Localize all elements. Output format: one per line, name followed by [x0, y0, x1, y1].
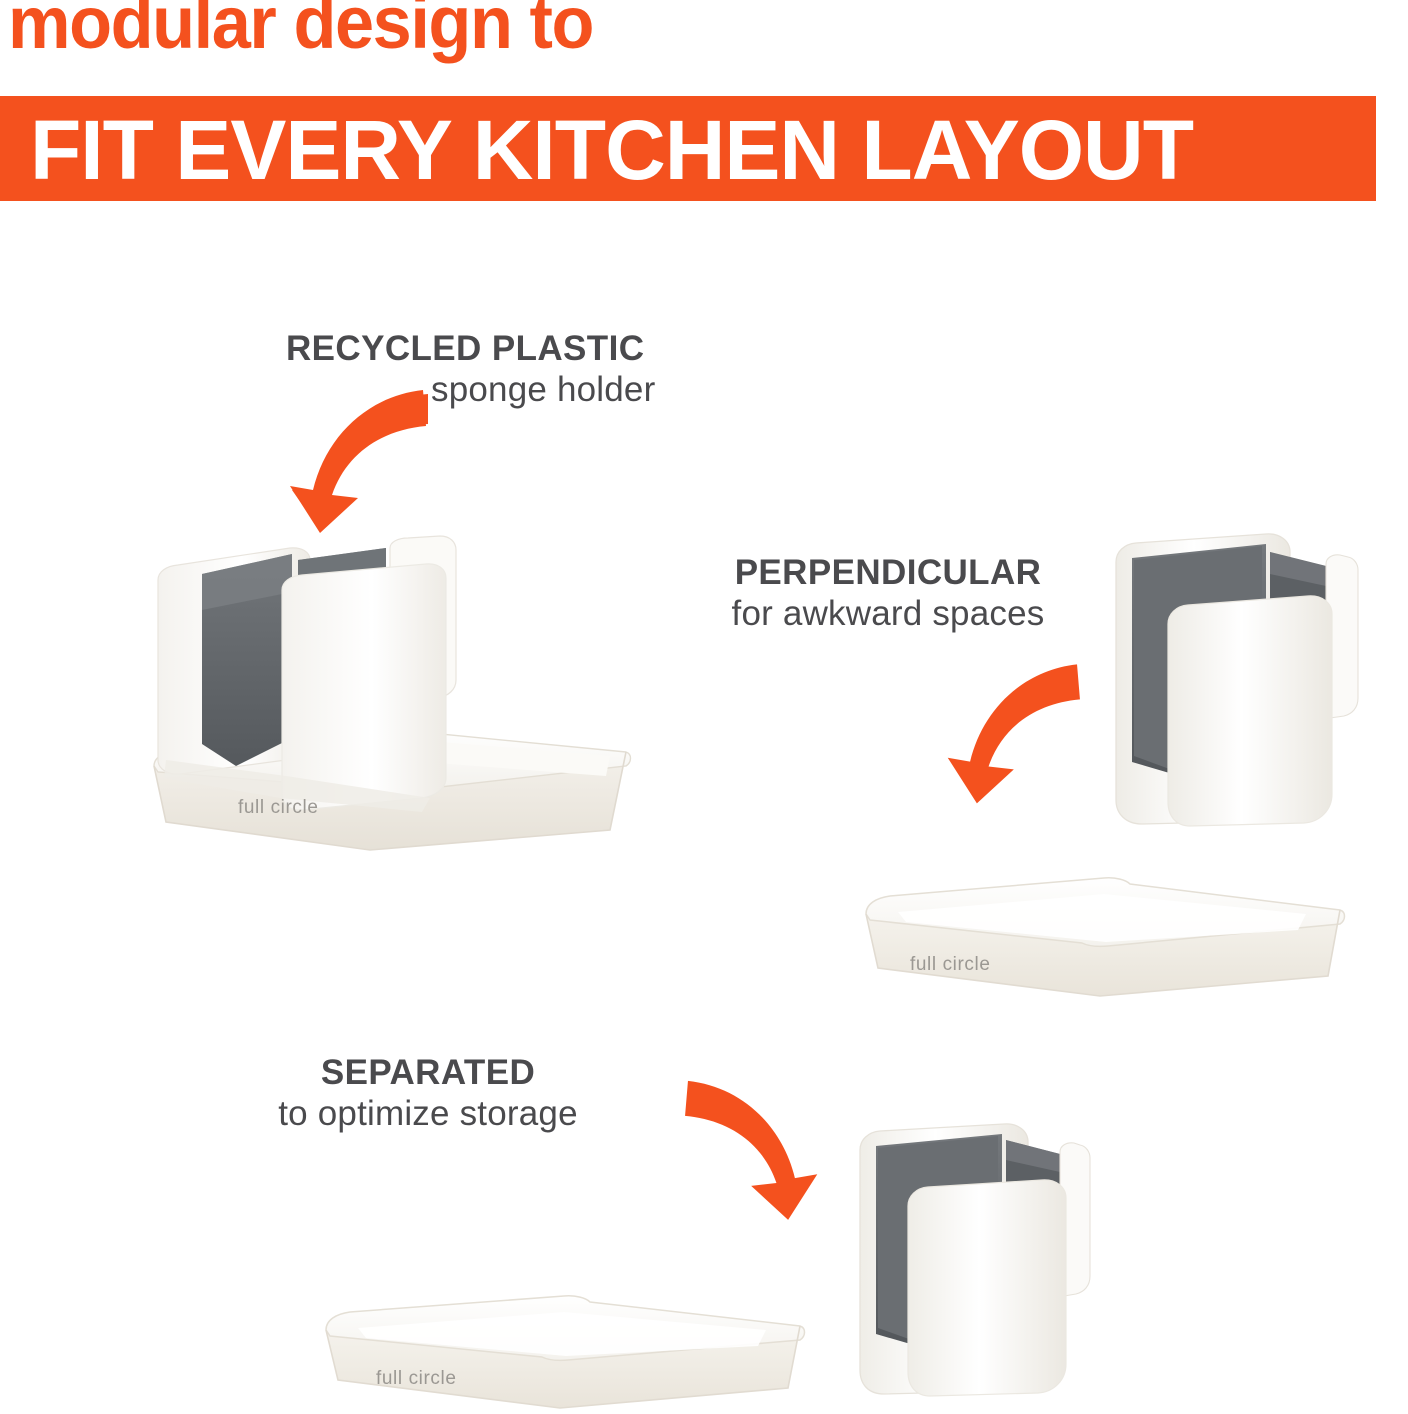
arrow-down-left-icon [938, 648, 1113, 813]
headline-text: FIT EVERY KITCHEN LAYOUT [30, 104, 1193, 196]
product-group-assembled: full circle [140, 530, 640, 880]
callout-perpendicular: PERPENDICULAR for awkward spaces [688, 552, 1088, 635]
arrow-down-left-icon [280, 378, 460, 538]
callout-separated: SEPARATED to optimize storage [228, 1052, 628, 1135]
arrow-down-right-icon [652, 1062, 827, 1232]
eyebrow-heading: modular design to [8, 0, 593, 60]
callout-subtitle: for awkward spaces [688, 593, 1088, 634]
product-sponge-holder-separated [838, 1122, 1103, 1414]
brand-mark: full circle [238, 797, 319, 818]
brand-mark: full circle [376, 1368, 457, 1389]
sponge-holder [158, 536, 456, 812]
callout-title: SEPARATED [228, 1052, 628, 1093]
header-block: modular design to FIT EVERY KITCHEN LAYO… [0, 0, 1408, 205]
product-tray-perpendicular: full circle [858, 818, 1348, 1003]
callout-title: PERPENDICULAR [688, 552, 1088, 593]
product-tray-separated: full circle [318, 1252, 808, 1414]
callout-subtitle: sponge holder [431, 369, 655, 410]
brand-mark: full circle [910, 954, 991, 975]
callout-title: RECYCLED PLASTIC [286, 328, 655, 369]
product-sponge-holder-perpendicular [1090, 530, 1370, 850]
headline-bar: FIT EVERY KITCHEN LAYOUT [0, 96, 1376, 201]
callout-subtitle: to optimize storage [228, 1093, 628, 1134]
